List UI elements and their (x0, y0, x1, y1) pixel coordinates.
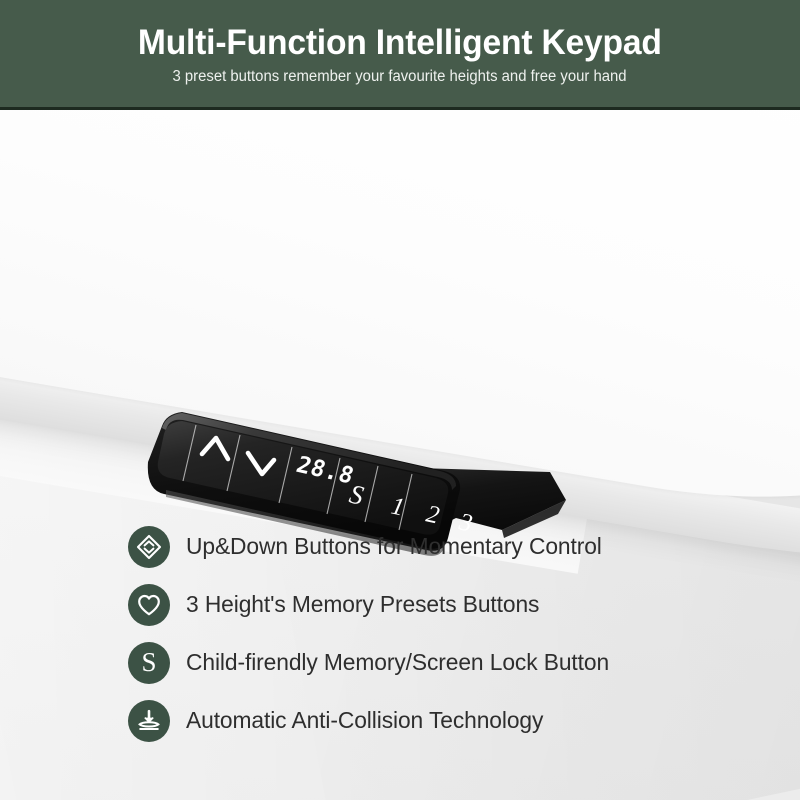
feature-item-updown: Up&Down Buttons for Momentary Control (128, 524, 768, 570)
diamond-updown-icon (128, 526, 170, 568)
feature-item-child-lock: S Child-firendly Memory/Screen Lock Butt… (128, 640, 768, 686)
product-photo: 28.8 S 1 2 3 (0, 110, 800, 800)
feature-label-child-lock: Child-firendly Memory/Screen Lock Button (186, 650, 609, 676)
anti-collision-icon (128, 700, 170, 742)
feature-item-anti-collision: Automatic Anti-Collision Technology (128, 698, 768, 744)
heart-icon (128, 584, 170, 626)
page-subtitle: 3 preset buttons remember your favourite… (173, 68, 627, 85)
feature-label-memory-presets: 3 Height's Memory Presets Buttons (186, 592, 539, 618)
header-banner: Multi-Function Intelligent Keypad 3 pres… (0, 0, 800, 110)
letter-s-icon: S (128, 642, 170, 684)
letter-s-glyph: S (141, 649, 156, 676)
feature-label-anti-collision: Automatic Anti-Collision Technology (186, 708, 543, 734)
page-title: Multi-Function Intelligent Keypad (138, 25, 662, 62)
feature-list: Up&Down Buttons for Momentary Control 3 … (128, 524, 768, 744)
feature-item-memory-presets: 3 Height's Memory Presets Buttons (128, 582, 768, 628)
feature-label-updown: Up&Down Buttons for Momentary Control (186, 534, 602, 560)
product-feature-banner: Multi-Function Intelligent Keypad 3 pres… (0, 0, 800, 800)
